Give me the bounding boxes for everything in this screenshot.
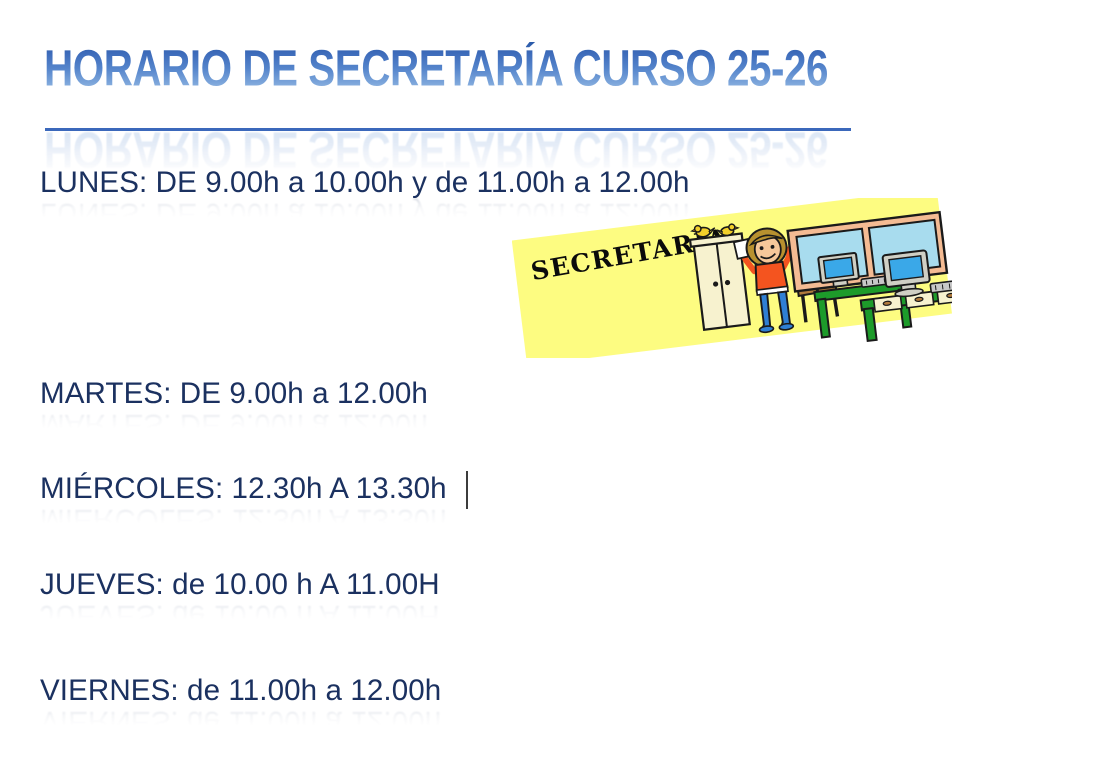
schedule-line-lunes-label: LUNES: DE 9.00h a 10.00h y de 11.00h a 1… xyxy=(40,166,690,200)
schedule-line-miercoles[interactable]: MIÉRCOLES: 12.30h A 13.30h MIÉRCOLES: 12… xyxy=(40,472,453,506)
secretaria-clipart[interactable]: SECRETARÍA xyxy=(512,198,952,358)
monitor-left-stand xyxy=(833,280,848,287)
monitor-left-screen xyxy=(824,257,854,278)
page-title-text: HORARIO DE SECRETARÍA CURSO 25-26 xyxy=(44,42,878,88)
page-title: HORARIO DE SECRETARÍA CURSO 25-26 HORARI… xyxy=(44,42,944,132)
schedule-line-martes-label: MARTES: DE 9.00h a 12.00h xyxy=(40,377,428,411)
secretaria-clipart-canvas: SECRETARÍA xyxy=(512,198,952,358)
schedule-line-martes[interactable]: MARTES: DE 9.00h a 12.00h MARTES: DE 9.0… xyxy=(40,377,434,411)
schedule-line-viernes[interactable]: VIERNES: de 11.00h a 12.00h VIERNES: de … xyxy=(40,674,447,708)
schedule-line-jueves[interactable]: JUEVES: de 10.00 h A 11.00H JUEVES: de 1… xyxy=(40,568,446,602)
schedule-line-viernes-label: VIERNES: de 11.00h a 12.00h xyxy=(40,674,441,708)
page-title-label: HORARIO DE SECRETARÍA CURSO 25-26 xyxy=(44,42,828,96)
schedule-line-lunes[interactable]: LUNES: DE 9.00h a 10.00h y de 11.00h a 1… xyxy=(40,166,699,200)
schedule-line-jueves-label: JUEVES: de 10.00 h A 11.00H xyxy=(40,568,440,602)
monitor-right-screen xyxy=(889,256,923,281)
text-cursor-caret xyxy=(466,471,468,509)
schedule-line-miercoles-label: MIÉRCOLES: 12.30h A 13.30h xyxy=(40,472,447,506)
secretaria-office-illustration: SECRETARÍA xyxy=(512,198,952,358)
